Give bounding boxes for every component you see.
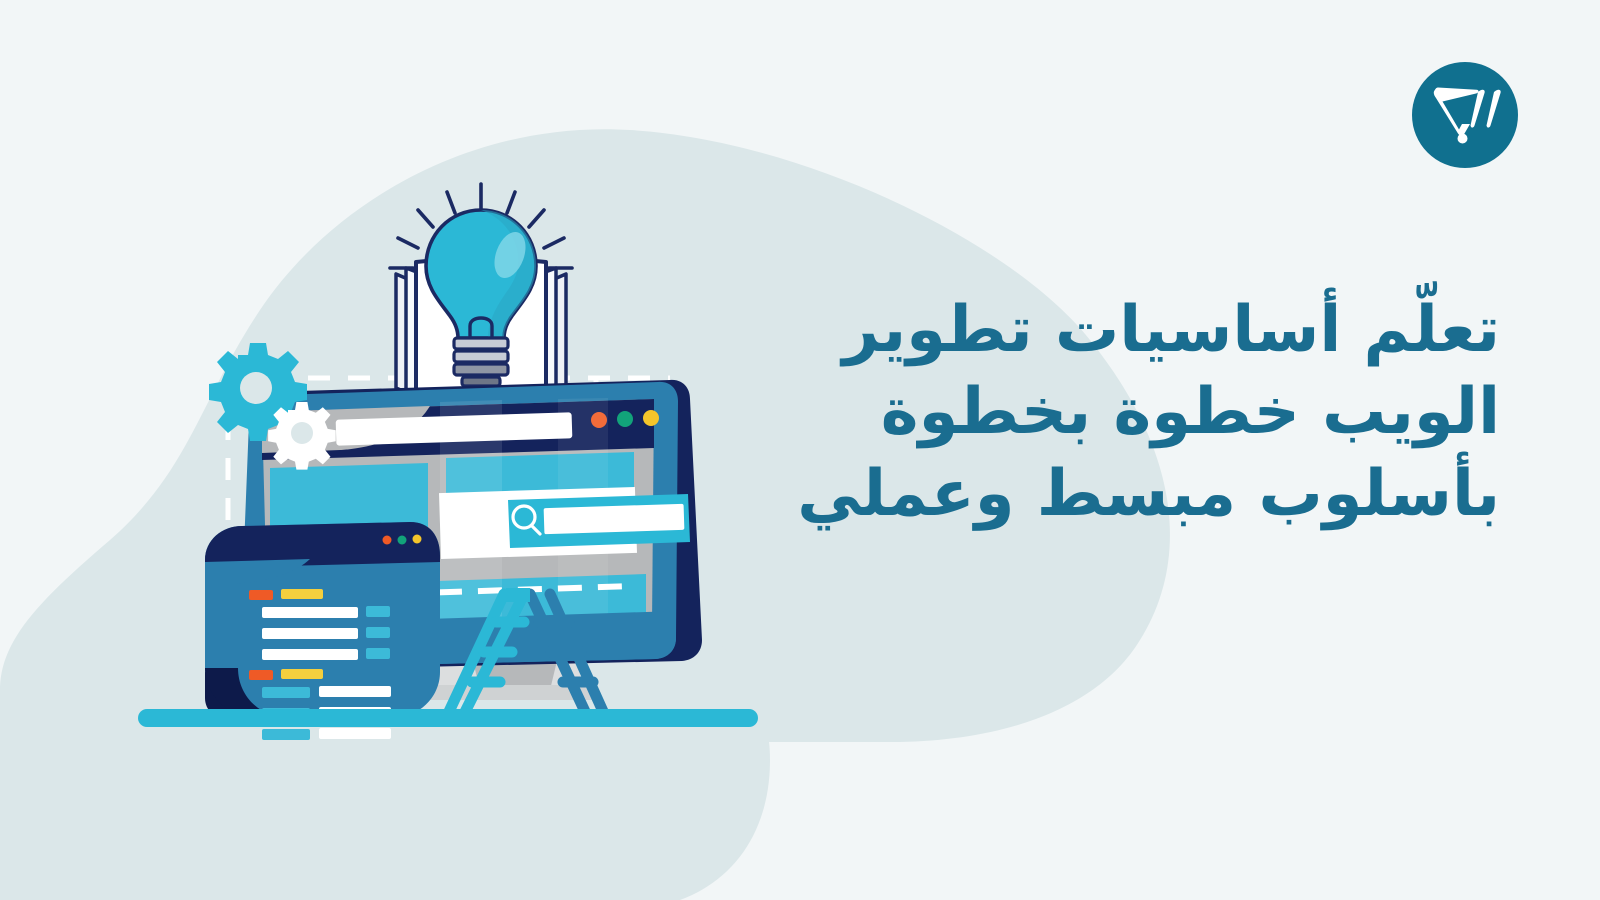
web-development-learning-illustration	[110, 170, 830, 770]
brand-logo[interactable]	[1412, 62, 1518, 168]
ground-line	[138, 709, 758, 727]
gear-small-icon	[268, 402, 336, 470]
editor-window-dots	[383, 535, 422, 545]
logo-circle	[1412, 62, 1518, 168]
search-bar[interactable]	[508, 494, 690, 548]
page-title: تعلّم أساسيات تطوير الويب خطوة بخطوة بأس…	[840, 290, 1500, 536]
bulb-base	[454, 338, 508, 386]
logo-dot	[1458, 134, 1468, 144]
headline-line-3: بأسلوب مبسط وعملي	[840, 454, 1500, 536]
headline-line-1: تعلّم أساسيات تطوير	[840, 290, 1500, 372]
headline-line-2: الويب خطوة بخطوة	[840, 372, 1500, 454]
code-editor-panel	[205, 522, 440, 740]
poster-canvas: تعلّم أساسيات تطوير الويب خطوة بخطوة بأس…	[0, 0, 1600, 900]
search-input[interactable]	[544, 504, 685, 534]
